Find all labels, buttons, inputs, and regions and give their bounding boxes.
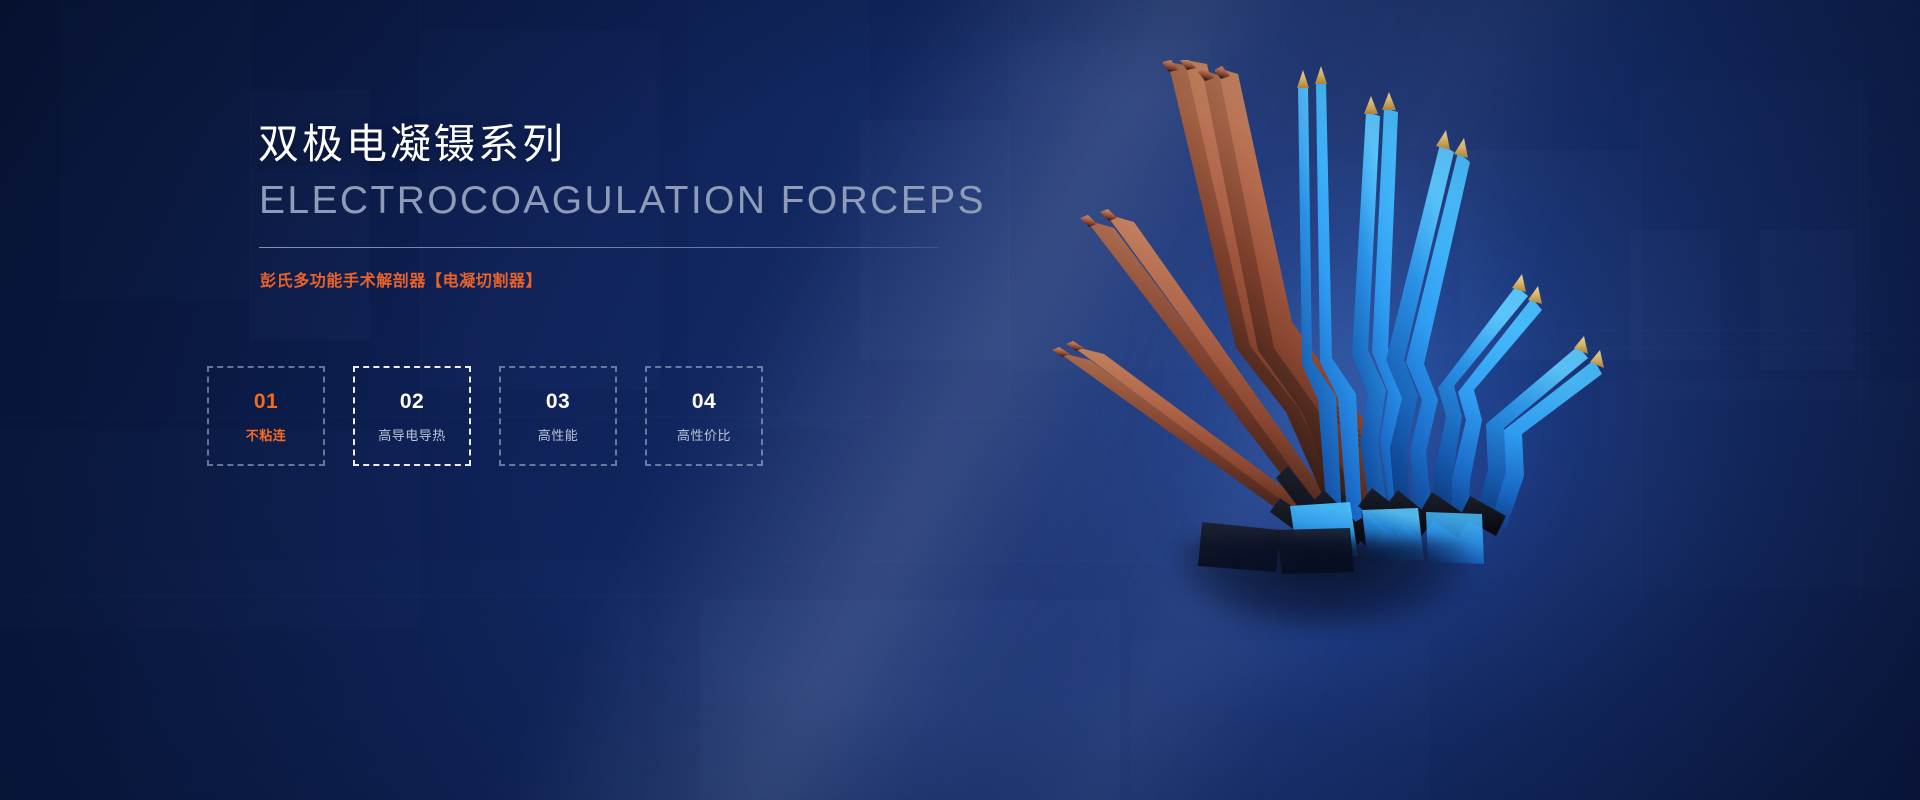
banner-content: 双极电凝镊系列 ELECTROCOAGULATION FORCEPS 彭氏多功能… <box>258 0 978 800</box>
banner-stage: 双极电凝镊系列 ELECTROCOAGULATION FORCEPS 彭氏多功能… <box>0 0 1920 800</box>
feature-box-03[interactable]: 03 高性能 <box>499 366 617 466</box>
feature-box-list: 01 不粘连 02 高导电导热 03 高性能 04 高性价比 <box>207 366 763 466</box>
product-image-forceps <box>1050 60 1610 600</box>
feature-box-04[interactable]: 04 高性价比 <box>645 366 763 466</box>
page-subtitle-en: ELECTROCOAGULATION FORCEPS <box>259 181 986 220</box>
feature-number: 01 <box>254 391 278 412</box>
feature-label: 不粘连 <box>246 429 287 442</box>
product-tagline: 彭氏多功能手术解剖器【电凝切割器】 <box>260 274 542 290</box>
feature-label: 高性价比 <box>677 429 731 442</box>
feature-label: 高导电导热 <box>378 429 446 442</box>
feature-box-01[interactable]: 01 不粘连 <box>207 366 325 466</box>
divider <box>259 247 939 248</box>
feature-box-02[interactable]: 02 高导电导热 <box>353 366 471 466</box>
feature-number: 03 <box>546 391 570 412</box>
feature-label: 高性能 <box>538 429 579 442</box>
feature-number: 04 <box>692 391 716 412</box>
feature-number: 02 <box>400 391 424 412</box>
page-title: 双极电凝镊系列 <box>258 124 566 165</box>
